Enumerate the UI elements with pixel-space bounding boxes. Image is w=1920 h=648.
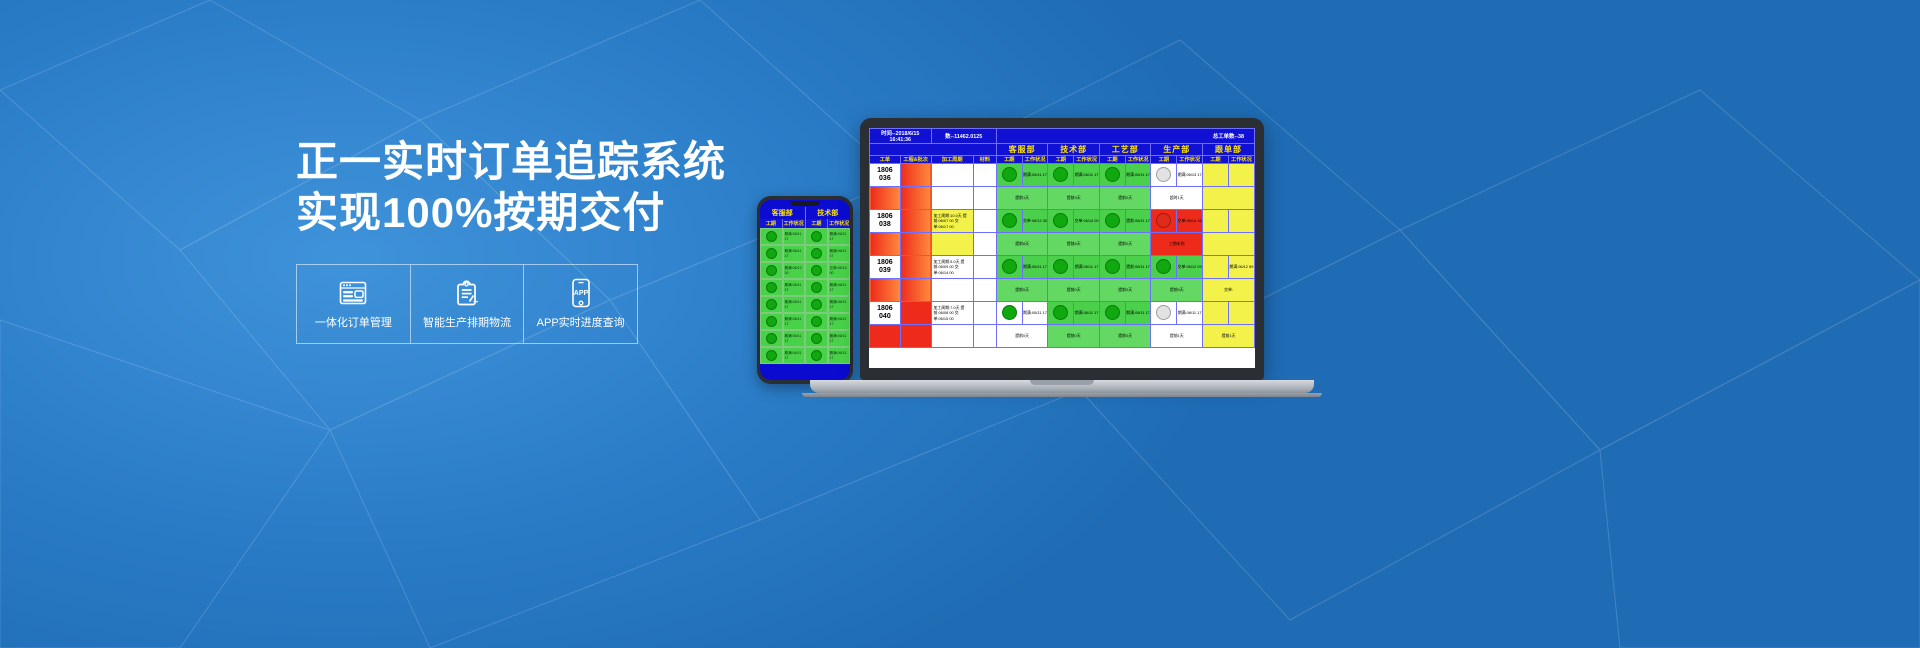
cell-status-text: 提前1天 [1151, 325, 1203, 348]
order-no-line2: 040 [870, 313, 900, 321]
cell-project-batch [900, 256, 931, 279]
cell-status-text: 提前0天 [1048, 325, 1100, 348]
cell-material [973, 302, 996, 325]
cell-status-text: 提前0天 [1048, 279, 1100, 302]
dept-spacer [870, 144, 997, 156]
department-header-row: 客服部 技术部 工艺部 生产部 跟单部 [870, 144, 1255, 156]
cell-period: 期满:06/11 17 [1074, 302, 1100, 325]
table-row[interactable]: 1806 039 加工周期:5.0天 提前:06/09 00 交单:06/14 … [870, 256, 1255, 279]
col-header-period: 工期 [1151, 156, 1177, 164]
status-dot-icon [1105, 305, 1120, 320]
cell-project-fill [900, 233, 931, 256]
col-header-period: 工期 [1099, 156, 1125, 164]
cell-project-batch [900, 164, 931, 187]
phone-column-period-right: 期满:06/11 17 期满:06/11 17 交单:06/14 00 期满:0… [828, 228, 851, 364]
feature-label: 一体化订单管理 [315, 314, 392, 330]
laptop-base [810, 380, 1314, 393]
status-dot-icon [766, 282, 777, 293]
cell-status[interactable] [1151, 164, 1177, 187]
phone-col-label: 工作状况 [783, 219, 806, 228]
status-dot-icon [766, 333, 777, 344]
phone-period-cell: 期满:06/11 17 [828, 245, 851, 262]
status-dot-icon [1002, 305, 1017, 320]
svg-text:APP: APP [573, 290, 588, 297]
cell-period: 期满:06/11 17 [1177, 302, 1203, 325]
cell-cycle: 加工周期:7.0天 提前:06/08 00 交单:06/15 00 [931, 302, 973, 325]
col-header-period: 工期 [1203, 156, 1229, 164]
phone-status-cell[interactable] [760, 313, 783, 330]
table-row-footnote: 提前0天 提前0天 提前0天 提前0天 交单: [870, 279, 1255, 302]
cell-status[interactable] [996, 210, 1022, 233]
cell-period: 期满:06/11 17 [1074, 164, 1100, 187]
order-no-line1: 1806 [870, 305, 900, 313]
headline-line-2: 实现100%按期交付 [296, 187, 716, 238]
cell-period: 期满:06/11 17 [1022, 256, 1048, 279]
cell-status-text: 提前0天 [1099, 187, 1151, 210]
phone-column-header: 工期 工作状况 工期 工作状况 [760, 219, 850, 228]
phone-status-cell[interactable] [805, 347, 828, 364]
phone-period-cell: 期满:06/11 17 [828, 347, 851, 364]
table-row-footnote: 提前8天 提前6天 提前0天 工期未到 [870, 233, 1255, 256]
cell-project-fill [900, 325, 931, 348]
cell-period: 期满:06/12 59 [1228, 256, 1254, 279]
cell-cycle: 加工周期:10.0天 提前:06/07 00 交单:06/17 00 [931, 210, 973, 233]
phone-status-cell[interactable] [805, 313, 828, 330]
phone-period-cell: 期满:06/11 17 [783, 279, 806, 296]
col-header-status: 工作状况 [1125, 156, 1151, 164]
phone-status-cell[interactable] [760, 245, 783, 262]
cell-cycle [931, 164, 973, 187]
phone-period-cell: 交单:06/14 00 [828, 262, 851, 279]
cell-status-text: 提前6天 [1048, 233, 1100, 256]
cell-project-fill [900, 187, 931, 210]
cell-status-text: 提前3天 [1048, 187, 1100, 210]
cell-status[interactable] [1151, 256, 1177, 279]
status-dot-icon [1105, 167, 1120, 182]
cell-period: 期满:06/11 17 [1125, 302, 1151, 325]
cell-period [1228, 164, 1254, 187]
cell-material [973, 210, 996, 233]
cell-period: 期满:06/11 17 [1022, 164, 1048, 187]
col-header-order-no: 工单 [870, 156, 901, 164]
status-dot-icon [811, 316, 822, 327]
laptop-lid: 时间--2018/6/15 16:41:36 数--11462.0125 总工单… [860, 118, 1264, 380]
cell-status[interactable] [1048, 256, 1074, 279]
phone-period-cell: 期满:06/11 17 [783, 296, 806, 313]
page-title: 正一实时订单追踪系统 实现100%按期交付 [296, 136, 716, 238]
status-dot-icon [1053, 167, 1068, 182]
order-no-line1: 1806 [870, 167, 900, 175]
cell-period: 期满:06/11 17 [1125, 164, 1151, 187]
cell-period [1228, 210, 1254, 233]
phone-status-cell[interactable] [760, 262, 783, 279]
phone-status-cell[interactable] [760, 296, 783, 313]
phone-period-cell: 期满:06/11 17 [783, 228, 806, 245]
cell-status[interactable] [996, 302, 1022, 325]
status-dot-icon [766, 316, 777, 327]
cell-status-text [1203, 233, 1255, 256]
cell-order-fill [870, 233, 901, 256]
cell-status-text: 提前8天 [996, 233, 1048, 256]
cell-period: 提前:06/11 17 [1125, 210, 1151, 233]
phone-col-label: 工作状况 [828, 219, 850, 228]
phone-table-body: 期满:06/11 17 期满:06/11 17 期满:06/12 30 期满:0… [760, 228, 850, 364]
phone-dept-label: 技术部 [806, 207, 851, 219]
status-dot-icon [811, 299, 822, 310]
phone-period-cell: 期满:06/11 17 [828, 296, 851, 313]
col-header-status: 工作状况 [1022, 156, 1048, 164]
cell-status[interactable] [1203, 256, 1229, 279]
phone-column-status-right [805, 228, 828, 364]
cell-status-text: 提前0天 [1099, 325, 1151, 348]
cell-status-text: 交单: [1203, 279, 1255, 302]
phone-status-cell[interactable] [805, 228, 828, 245]
status-dot-icon [811, 231, 822, 242]
status-dot-icon [1156, 167, 1171, 182]
table-row[interactable]: 1806 036 期满:06/11 17 期满:06/11 17 期满:06/1… [870, 164, 1255, 187]
dept-header-process: 工艺部 [1099, 144, 1151, 156]
status-dot-icon [811, 265, 822, 276]
laptop-device: 时间--2018/6/15 16:41:36 数--11462.0125 总工单… [860, 118, 1322, 397]
order-no-line2: 036 [870, 175, 900, 183]
cell-status[interactable] [1203, 164, 1229, 187]
laptop-base-edge [802, 393, 1322, 397]
cell-status[interactable] [1203, 210, 1229, 233]
cell-period: 交单:06/14 00 [1074, 210, 1100, 233]
laptop-screen: 时间--2018/6/15 16:41:36 数--11462.0125 总工单… [869, 128, 1255, 368]
status-dot-icon [1105, 259, 1120, 274]
status-dot-icon [811, 248, 822, 259]
cell-status[interactable] [1151, 302, 1177, 325]
cell-order-no: 1806 038 [870, 210, 901, 233]
cell-period: 交单:06/12 30 [1022, 210, 1048, 233]
order-no-line2: 038 [870, 221, 900, 229]
cell-period: 提前:06/11 17 [1125, 256, 1151, 279]
cell-period: 期满:06/11 17 [1074, 256, 1100, 279]
cell-project-fill [900, 279, 931, 302]
cell-status[interactable] [1048, 302, 1074, 325]
col-header-period: 工期 [996, 156, 1022, 164]
feature-item-app-progress-query[interactable]: APP APP实时进度查询 [524, 265, 637, 343]
table-row-footnote: 提前0天 提前0天 提前0天 提前1天 提前1天 [870, 325, 1255, 348]
order-tracking-table: 时间--2018/6/15 16:41:36 数--11462.0125 总工单… [869, 128, 1255, 348]
col-header-material: 材料 [973, 156, 996, 164]
cell-status[interactable] [1099, 302, 1125, 325]
cell-status-text: 提前1天 [1203, 325, 1255, 348]
phone-period-cell: 期满:06/11 17 [828, 279, 851, 296]
phone-col-label: 工期 [760, 219, 783, 228]
cell-order-fill [870, 325, 901, 348]
feature-item-order-management[interactable]: 一体化订单管理 [297, 265, 411, 343]
order-no-line1: 1806 [870, 213, 900, 221]
status-dot-icon [1053, 213, 1068, 228]
col-header-project-batch: 工程&批次 [900, 156, 931, 164]
cell-cycle: 加工周期:5.0天 提前:06/09 00 交单:06/14 00 [931, 256, 973, 279]
status-dot-icon [1156, 259, 1171, 274]
col-header-status: 工作状况 [1177, 156, 1203, 164]
status-dot-icon [1053, 305, 1068, 320]
phone-status-cell[interactable] [805, 262, 828, 279]
status-dot-icon [1105, 213, 1120, 228]
phone-status-cell[interactable] [805, 296, 828, 313]
cell-period [1228, 302, 1254, 325]
cell-status[interactable] [1099, 164, 1125, 187]
status-dot-icon [811, 350, 822, 361]
phone-period-cell: 期满:06/11 17 [828, 330, 851, 347]
cell-project-batch [900, 302, 931, 325]
col-header-period: 工期 [1048, 156, 1074, 164]
status-dot-icon [766, 299, 777, 310]
cell-status[interactable] [996, 256, 1022, 279]
phone-period-cell: 期满:06/12 30 [783, 262, 806, 279]
status-dot-icon [1156, 305, 1171, 320]
clipboard-icon [455, 278, 479, 308]
feature-list: 一体化订单管理 智能生产排期物流 APP APP实时进度查询 [296, 264, 638, 344]
status-dot-icon [1156, 213, 1171, 228]
cell-material [973, 164, 996, 187]
cell-status-text: 提前0天 [996, 325, 1048, 348]
cell-order-fill [870, 279, 901, 302]
phone-col-label: 工期 [806, 219, 829, 228]
cell-status-text: 工期未到 [1151, 233, 1203, 256]
cell-status[interactable] [1048, 164, 1074, 187]
cell-cycle-fill [931, 233, 973, 256]
phone-period-cell: 期满:06/11 17 [783, 347, 806, 364]
order-tracking-dashboard: 时间--2018/6/15 16:41:36 数--11462.0125 总工单… [869, 128, 1255, 368]
status-dot-icon [1002, 259, 1017, 274]
order-no-line1: 1806 [870, 259, 900, 267]
status-dot-icon [1002, 213, 1017, 228]
cell-cycle-fill [931, 325, 973, 348]
cell-status[interactable] [1048, 210, 1074, 233]
cell-period: 交单:06/14 16 [1177, 210, 1203, 233]
meta-time: 时间--2018/6/15 16:41:36 [870, 129, 932, 144]
cell-status-text [1203, 187, 1255, 210]
phone-status-cell[interactable] [760, 279, 783, 296]
cell-status[interactable] [1203, 302, 1229, 325]
cell-status[interactable] [1099, 256, 1125, 279]
phone-status-cell[interactable] [760, 228, 783, 245]
phone-notch [790, 201, 820, 206]
cell-order-fill [870, 187, 901, 210]
phone-status-cell[interactable] [805, 330, 828, 347]
dept-header-technology: 技术部 [1048, 144, 1100, 156]
phone-dept-label: 客服部 [760, 207, 806, 219]
meta-count: 数--11462.0125 [931, 129, 996, 144]
cell-status[interactable] [1151, 210, 1177, 233]
cell-status-text: 超时1天 [1151, 187, 1203, 210]
status-dot-icon [766, 350, 777, 361]
phone-status-cell[interactable] [805, 279, 828, 296]
status-dot-icon [766, 265, 777, 276]
dept-header-merchandising: 跟单部 [1203, 144, 1255, 156]
dashboard-icon [339, 278, 367, 308]
feature-item-production-scheduling[interactable]: 智能生产排期物流 [411, 265, 525, 343]
phone-period-cell: 期满:06/11 17 [783, 245, 806, 262]
cell-status-text: 提前0天 [996, 279, 1048, 302]
phone-period-cell: 期满:06/11 17 [828, 313, 851, 330]
cell-period: 期满:06/11 17 [1022, 302, 1048, 325]
cell-status-text: 提前1天 [996, 187, 1048, 210]
table-row[interactable]: 1806 038 加工周期:10.0天 提前:06/07 00 交单:06/17… [870, 210, 1255, 233]
cell-material-fill [973, 325, 996, 348]
status-dot-icon [766, 248, 777, 259]
meta-total: 总工单数--38 [996, 129, 1254, 144]
phone-column-status-left [760, 228, 783, 364]
cell-status[interactable] [996, 164, 1022, 187]
cell-status-text: 提前0天 [1099, 233, 1151, 256]
mobile-app-icon: APP [571, 278, 591, 308]
hero-copy: 正一实时订单追踪系统 实现100%按期交付 [296, 136, 716, 238]
status-dot-icon [766, 231, 777, 242]
cell-status-text: 提前0天 [1151, 279, 1203, 302]
cell-cycle-fill [931, 187, 973, 210]
cell-order-no: 1806 040 [870, 302, 901, 325]
status-dot-icon [1053, 259, 1068, 274]
col-header-cycle: 加工周期 [931, 156, 973, 164]
phone-status-cell[interactable] [805, 245, 828, 262]
cell-project-batch [900, 210, 931, 233]
cell-period: 期满:06/13 17 [1177, 164, 1203, 187]
table-row[interactable]: 1806 040 加工周期:7.0天 提前:06/08 00 交单:06/15 … [870, 302, 1255, 325]
cell-order-no: 1806 036 [870, 164, 901, 187]
cell-status[interactable] [1099, 210, 1125, 233]
cell-status-text: 提前0天 [1099, 279, 1151, 302]
mobile-screen: 客服部 技术部 工期 工作状况 工期 工作状况 期满:06/11 17 期满:0… [760, 200, 850, 380]
table-row-footnote: 提前1天 提前3天 提前0天 超时1天 [870, 187, 1255, 210]
cell-material-fill [973, 233, 996, 256]
mobile-device: 客服部 技术部 工期 工作状况 工期 工作状况 期满:06/11 17 期满:0… [757, 196, 853, 384]
col-header-status: 工作状况 [1074, 156, 1100, 164]
col-header-status: 工作状况 [1228, 156, 1254, 164]
status-dot-icon [811, 282, 822, 293]
status-dot-icon [1002, 167, 1017, 182]
phone-period-cell: 期满:06/11 17 [783, 313, 806, 330]
feature-label: APP实时进度查询 [537, 314, 625, 330]
phone-status-cell[interactable] [760, 347, 783, 364]
order-no-line2: 039 [870, 267, 900, 275]
cell-material [973, 256, 996, 279]
phone-status-cell[interactable] [760, 330, 783, 347]
cell-order-no: 1806 039 [870, 256, 901, 279]
dept-header-customer-service: 客服部 [996, 144, 1048, 156]
cell-period: 交单:06/12 09 [1177, 256, 1203, 279]
dept-header-production: 生产部 [1151, 144, 1203, 156]
cell-material-fill [973, 279, 996, 302]
phone-period-cell: 期满:06/11 17 [783, 330, 806, 347]
cell-cycle-fill [931, 279, 973, 302]
feature-label: 智能生产排期物流 [423, 314, 511, 330]
cell-material-fill [973, 187, 996, 210]
headline-line-1: 正一实时订单追踪系统 [296, 138, 726, 185]
status-dot-icon [811, 333, 822, 344]
column-header-row: 工单 工程&批次 加工周期 材料 工期 工作状况 工期 工作状况 工期 工作状况… [870, 156, 1255, 164]
phone-period-cell: 期满:06/11 17 [828, 228, 851, 245]
dashboard-meta-row: 时间--2018/6/15 16:41:36 数--11462.0125 总工单… [870, 129, 1255, 144]
phone-column-period-left: 期满:06/11 17 期满:06/11 17 期满:06/12 30 期满:0… [783, 228, 806, 364]
